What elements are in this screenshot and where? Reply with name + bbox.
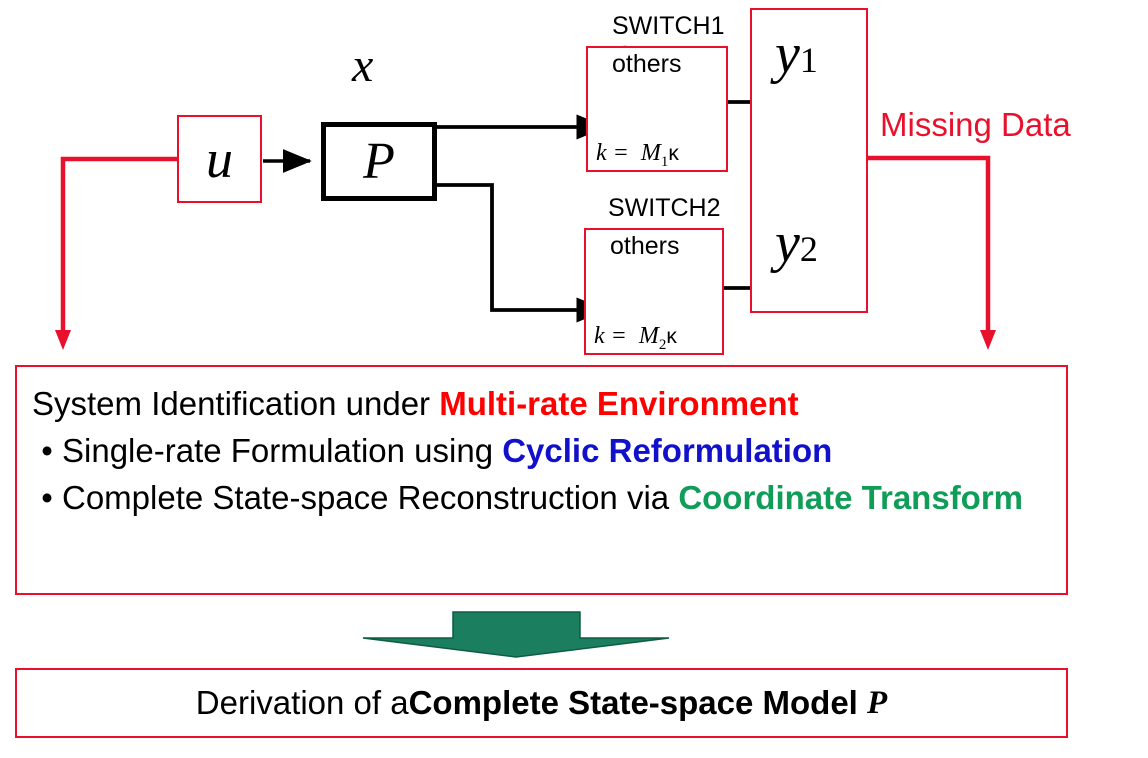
- switch2-others-label: others: [610, 232, 679, 261]
- slide-canvas: u P x SWITCH1 others k = M1κ SWITCH2 oth…: [0, 0, 1148, 758]
- missing-data-right-path: [868, 158, 996, 350]
- summary-box: System Identification under Multi-rate E…: [15, 365, 1068, 595]
- input-block-label: u: [179, 117, 260, 201]
- p-to-switch2-line: [437, 185, 605, 310]
- switch1-rate-label: k = M1κ: [596, 140, 679, 171]
- switch2-rate-label: k = M2κ: [594, 323, 677, 354]
- plant-block-p[interactable]: P: [321, 122, 437, 201]
- summary-bullet-2: • Complete State-space Reconstruction vi…: [32, 475, 1054, 522]
- summary-heading: System Identification under Multi-rate E…: [32, 381, 1054, 428]
- missing-data-label: Missing Data: [880, 106, 1071, 144]
- switch1-others-label: others: [612, 50, 681, 79]
- conclusion-box: Derivation of a Complete State-space Mod…: [15, 668, 1068, 738]
- missing-data-left-path: [55, 159, 177, 350]
- input-block-u[interactable]: u: [177, 115, 262, 203]
- summary-bullet-1: • Single-rate Formulation using Cyclic R…: [32, 428, 1054, 475]
- switch1-title: SWITCH1: [612, 12, 725, 41]
- switch2-title: SWITCH2: [608, 194, 721, 223]
- summary-heading-accent: Multi-rate Environment: [439, 385, 798, 422]
- switch1-box[interactable]: others k = M1κ: [586, 46, 728, 172]
- bullet-2-accent: Coordinate Transform: [678, 479, 1023, 516]
- conclusion-text: Derivation of a Complete State-space Mod…: [17, 670, 1066, 736]
- output-label-y2: y2: [775, 215, 818, 271]
- output-label-y1: y1: [775, 26, 818, 82]
- bullet-marker: •: [32, 428, 62, 475]
- switch2-box[interactable]: others k = M2κ: [584, 228, 724, 355]
- bullet-1-accent: Cyclic Reformulation: [502, 432, 832, 469]
- conclusion-math: P: [867, 685, 887, 722]
- plant-block-label: P: [326, 127, 432, 196]
- conclusion-bold: Complete State-space Model: [409, 684, 858, 722]
- bullet-marker: •: [32, 475, 62, 522]
- state-label-x: x: [352, 42, 373, 90]
- green-down-arrow: [363, 612, 669, 657]
